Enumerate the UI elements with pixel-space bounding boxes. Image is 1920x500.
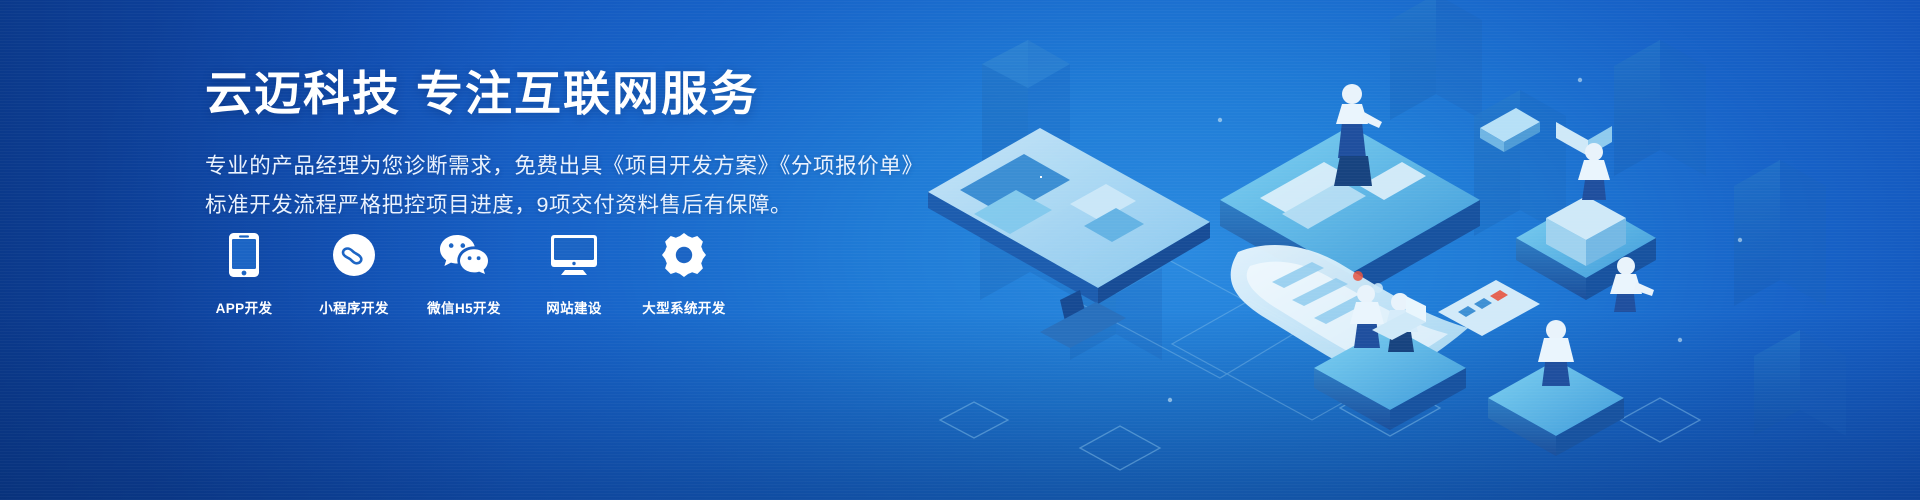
mobile-phone-icon [229, 232, 259, 278]
isometric-team-dashboard-illustration [920, 0, 1920, 500]
service-item-app[interactable]: APP开发 [205, 232, 283, 317]
service-item-mini-program[interactable]: 小程序开发 [315, 232, 393, 317]
service-list: APP开发 小程序开发 微信 [205, 232, 723, 317]
hero-banner: 云迈科技 专注互联网服务 专业的产品经理为您诊断需求，免费出具《项目开发方案》《… [0, 0, 1920, 500]
monitor-icon [551, 232, 597, 278]
hero-subtitle-line-2: 标准开发流程严格把控项目进度，9项交付资料售后有保障。 [205, 186, 965, 224]
service-label-website: 网站建设 [546, 297, 602, 317]
service-item-wechat-h5[interactable]: 微信H5开发 [425, 232, 503, 317]
service-label-mini-program: 小程序开发 [319, 297, 389, 317]
hero-subtitle: 专业的产品经理为您诊断需求，免费出具《项目开发方案》《分项报价单》 标准开发流程… [205, 147, 965, 224]
mini-program-icon [333, 232, 375, 278]
hero-copy: 云迈科技 专注互联网服务 专业的产品经理为您诊断需求，免费出具《项目开发方案》《… [205, 66, 965, 224]
service-item-large-system[interactable]: 大型系统开发 [645, 232, 723, 317]
service-label-large-system: 大型系统开发 [642, 297, 725, 317]
service-label-app: APP开发 [216, 297, 273, 317]
service-label-wechat-h5: 微信H5开发 [427, 297, 501, 317]
hero-subtitle-line-1: 专业的产品经理为您诊断需求，免费出具《项目开发方案》《分项报价单》 [205, 147, 965, 185]
service-item-website[interactable]: 网站建设 [535, 232, 613, 317]
gear-icon [662, 232, 706, 278]
page-title: 云迈科技 专注互联网服务 [205, 66, 965, 121]
wechat-icon [439, 232, 489, 278]
